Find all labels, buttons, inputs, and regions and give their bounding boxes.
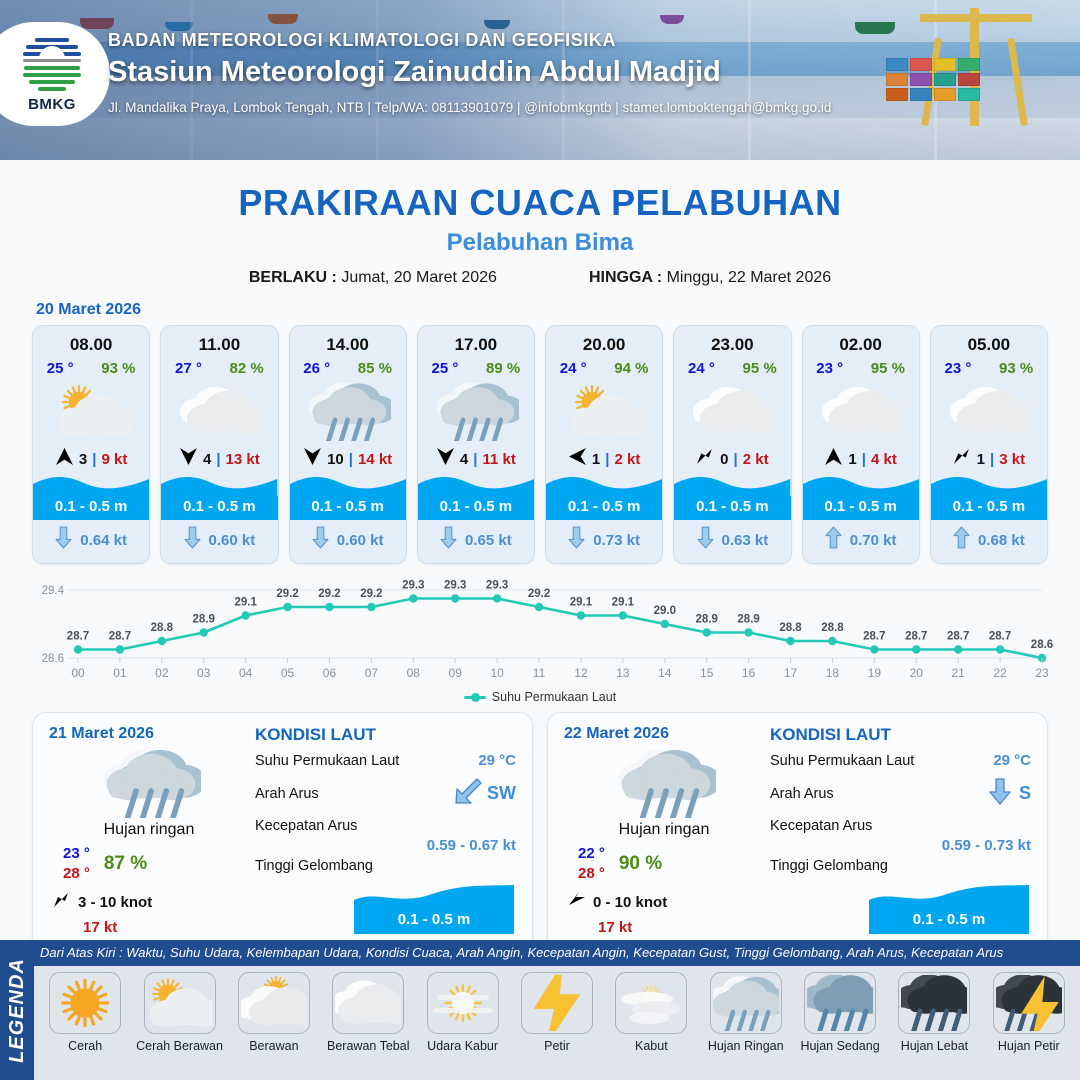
card-temperature: 25 ° xyxy=(47,360,74,377)
legend-item: Hujan Sedang xyxy=(793,972,887,1053)
valid-from: BERLAKU : Jumat, 20 Maret 2026 xyxy=(249,269,497,287)
wind-arrow-left-up-icon xyxy=(568,891,586,914)
wave-height-value: 0.1 - 0.5 m xyxy=(290,496,406,520)
card-wave-block: 0.1 - 0.5 m xyxy=(290,474,406,520)
wind-arrow-down-icon xyxy=(436,447,455,471)
card-temperature: 27 ° xyxy=(175,360,202,377)
svg-text:07: 07 xyxy=(365,666,379,680)
weather-rain-icon xyxy=(564,745,764,819)
current-arrow-down-icon xyxy=(312,526,329,554)
current-arrow-down-icon xyxy=(184,526,201,554)
card-temperature: 23 ° xyxy=(945,360,972,377)
separator: | xyxy=(473,451,477,468)
station-name: Stasiun Meteorologi Zainuddin Abdul Madj… xyxy=(108,56,831,89)
validity-row: BERLAKU : Jumat, 20 Maret 2026 HINGGA : … xyxy=(0,269,1080,287)
card-humidity: 93 % xyxy=(101,360,135,377)
legend-marker-icon xyxy=(464,696,486,699)
svg-text:29.0: 29.0 xyxy=(654,605,676,617)
card-time: 17.00 xyxy=(455,335,498,355)
svg-text:13: 13 xyxy=(616,666,630,680)
valid-to: HINGGA : Minggu, 22 Maret 2026 xyxy=(589,269,831,287)
sst-chart-svg: 29.428.628.70028.70128.80228.90329.10429… xyxy=(20,576,1060,688)
card-temperature: 23 ° xyxy=(816,360,843,377)
valid-to-label: HINGGA : xyxy=(589,269,662,286)
wind-arrow-down-left-icon xyxy=(53,891,71,914)
card-temp-humidity: 26 ° 85 % xyxy=(290,360,406,377)
legend-item-label: Udara Kabur xyxy=(427,1039,498,1053)
separator: | xyxy=(605,451,609,468)
wave-shape-icon xyxy=(674,474,790,496)
legend-item-label: Petir xyxy=(544,1039,570,1053)
legend-item: Udara Kabur xyxy=(415,972,509,1053)
svg-text:04: 04 xyxy=(239,666,253,680)
legend-sun-cloud-icon xyxy=(144,972,216,1034)
legend-item: Petir xyxy=(510,972,604,1053)
current-speed-value: 0.64 kt xyxy=(80,532,127,549)
legend-item: Hujan Ringan xyxy=(699,972,793,1053)
legend-item: Cerah Berawan xyxy=(132,972,226,1053)
legend-item-label: Berawan xyxy=(249,1039,298,1053)
weather-rain-icon xyxy=(433,380,519,442)
hourly-card[interactable]: 05.00 23 ° 93 % 1 | 3 kt 0.1 - 0.5 m 0.6… xyxy=(930,325,1048,564)
wave-shape-icon xyxy=(931,474,1047,496)
card-wind: 10 | 14 kt xyxy=(303,446,392,472)
legend-fog-icon xyxy=(615,972,687,1034)
svg-text:29.3: 29.3 xyxy=(444,580,466,592)
bmkg-emblem-icon xyxy=(23,36,81,92)
card-humidity: 85 % xyxy=(358,360,392,377)
legend-moderate-rain-icon xyxy=(804,972,876,1034)
chart-legend: Suhu Permukaan Laut xyxy=(0,690,1080,704)
legend-item-label: Hujan Ringan xyxy=(708,1039,784,1053)
wind-direction-value: 1 xyxy=(848,451,856,468)
card-time: 08.00 xyxy=(70,335,113,355)
card-wave-block: 0.1 - 0.5 m xyxy=(161,474,277,520)
hourly-card[interactable]: 23.00 24 ° 95 % 0 | 2 kt 0.1 - 0.5 m 0.6… xyxy=(673,325,791,564)
current-direction-value: S xyxy=(1019,783,1031,804)
legend-side-label: LEGENDA xyxy=(6,958,29,1063)
card-temp-humidity: 25 ° 89 % xyxy=(418,360,534,377)
port-name: Pelabuhan Bima xyxy=(0,229,1080,257)
legend-item: Cerah xyxy=(38,972,132,1053)
current-arrow-up-icon xyxy=(825,526,842,554)
valid-from-label: BERLAKU : xyxy=(249,269,337,286)
wind-arrow-up-icon xyxy=(824,447,843,471)
card-current: 0.65 kt xyxy=(418,520,534,563)
daily-wave-value: 0.1 - 0.5 m xyxy=(354,910,514,934)
wind-direction-value: 10 xyxy=(327,451,344,468)
card-temp-humidity: 23 ° 95 % xyxy=(803,360,919,377)
daily-wind: 3 - 10 knot xyxy=(49,891,249,914)
wave-shape-icon xyxy=(354,884,514,910)
wave-shape-icon xyxy=(33,474,149,496)
svg-text:28.7: 28.7 xyxy=(109,631,131,643)
wave-shape-icon xyxy=(803,474,919,496)
svg-text:28.9: 28.9 xyxy=(737,614,759,626)
daily-wind: 0 - 10 knot xyxy=(564,891,764,914)
wave-shape-icon xyxy=(161,474,277,496)
legend-lightning-icon xyxy=(521,972,593,1034)
current-arrow-down-left-diagonal-icon xyxy=(453,776,483,811)
svg-text:06: 06 xyxy=(323,666,337,680)
valid-to-value: Minggu, 22 Maret 2026 xyxy=(667,269,832,286)
page-title: PRAKIRAAN CUACA PELABUHAN xyxy=(0,182,1080,224)
card-wave-block: 0.1 - 0.5 m xyxy=(546,474,662,520)
card-time: 20.00 xyxy=(583,335,626,355)
legend-item: Berawan Tebal xyxy=(321,972,415,1053)
sst-label: Suhu Permukaan Laut xyxy=(770,753,914,769)
daily-wave-value: 0.1 - 0.5 m xyxy=(869,910,1029,934)
hourly-card[interactable]: 08.00 25 ° 93 % 3 | 9 kt 0.1 - 0.5 m 0.6… xyxy=(32,325,150,564)
daily-summary: 21 Maret 2026 Hujan ringan 23 ° 28 ° 87 … xyxy=(49,725,249,936)
daily-wave-block: 0.1 - 0.5 m xyxy=(255,878,516,934)
wind-arrow-down-icon xyxy=(179,447,198,471)
svg-text:21: 21 xyxy=(951,666,965,680)
wind-speed-value: 2 kt xyxy=(743,451,769,468)
svg-text:15: 15 xyxy=(700,666,714,680)
svg-text:05: 05 xyxy=(281,666,295,680)
daily-temperatures: 22 ° 28 ° 90 % xyxy=(564,845,764,882)
bmkg-logo: BMKG xyxy=(0,22,110,126)
svg-text:28.9: 28.9 xyxy=(696,614,718,626)
card-humidity: 95 % xyxy=(871,360,905,377)
current-speed-label: Kecepatan Arus xyxy=(770,818,1031,834)
card-wind: 4 | 11 kt xyxy=(436,446,516,472)
card-current: 0.64 kt xyxy=(33,520,149,563)
sea-conditions: KONDISI LAUT Suhu Permukaan Laut 29 °C A… xyxy=(764,725,1031,936)
daily-temp-max: 28 ° xyxy=(578,865,605,882)
wind-direction-value: 0 xyxy=(720,451,728,468)
wave-height-value: 0.1 - 0.5 m xyxy=(931,496,1047,520)
svg-text:23: 23 xyxy=(1035,666,1049,680)
current-speed-value: 0.63 kt xyxy=(722,532,769,549)
legend-item: Berawan xyxy=(227,972,321,1053)
legend-item-label: Hujan Petir xyxy=(998,1039,1060,1053)
current-direction-label: Arah Arus xyxy=(255,786,319,802)
svg-text:12: 12 xyxy=(574,666,588,680)
svg-text:28.7: 28.7 xyxy=(947,631,969,643)
wave-shape-icon xyxy=(290,474,406,496)
hourly-card[interactable]: 14.00 26 ° 85 % 10 | 14 kt 0.1 - 0.5 m 0… xyxy=(289,325,407,564)
card-wave-block: 0.1 - 0.5 m xyxy=(418,474,534,520)
daily-wind-range: 3 - 10 knot xyxy=(78,894,152,911)
current-speed-value: 0.59 - 0.67 kt xyxy=(255,837,516,854)
daily-panel[interactable]: 22 Maret 2026 Hujan ringan 22 ° 28 ° 90 … xyxy=(547,712,1048,951)
current-speed-value: 0.73 kt xyxy=(593,532,640,549)
svg-text:29.4: 29.4 xyxy=(42,585,65,597)
card-temperature: 26 ° xyxy=(303,360,330,377)
wave-height-value: 0.1 - 0.5 m xyxy=(674,496,790,520)
daily-wind-range: 0 - 10 knot xyxy=(593,894,667,911)
weather-cloud-icon xyxy=(689,380,775,442)
card-temp-humidity: 27 ° 82 % xyxy=(161,360,277,377)
card-time: 14.00 xyxy=(326,335,369,355)
svg-text:28.6: 28.6 xyxy=(42,653,64,665)
legend-item: Kabut xyxy=(604,972,698,1053)
hourly-day-label: 20 Maret 2026 xyxy=(36,301,1080,319)
svg-text:02: 02 xyxy=(155,666,169,680)
svg-text:29.2: 29.2 xyxy=(318,588,340,600)
wave-height-value: 0.1 - 0.5 m xyxy=(803,496,919,520)
svg-text:28.9: 28.9 xyxy=(193,614,215,626)
current-speed-value: 0.60 kt xyxy=(337,532,384,549)
current-speed-value: 0.68 kt xyxy=(978,532,1025,549)
current-speed-label: Kecepatan Arus xyxy=(255,818,516,834)
wind-speed-value: 2 kt xyxy=(614,451,640,468)
daily-temp-min: 23 ° xyxy=(63,845,90,862)
svg-text:29.3: 29.3 xyxy=(486,580,508,592)
wind-speed-value: 11 kt xyxy=(482,451,515,468)
wave-height-label: Tinggi Gelombang xyxy=(770,858,1031,874)
svg-text:29.1: 29.1 xyxy=(570,597,593,609)
svg-text:01: 01 xyxy=(113,666,127,680)
hourly-forecast-row: 08.00 25 ° 93 % 3 | 9 kt 0.1 - 0.5 m 0.6… xyxy=(0,325,1080,564)
svg-text:28.8: 28.8 xyxy=(779,622,802,634)
separator: | xyxy=(349,451,353,468)
sst-label: Suhu Permukaan Laut xyxy=(255,753,399,769)
legend-heavy-rain-icon xyxy=(898,972,970,1034)
card-time: 05.00 xyxy=(968,335,1011,355)
current-speed-value: 0.65 kt xyxy=(465,532,512,549)
wave-height-value: 0.1 - 0.5 m xyxy=(161,496,277,520)
daily-date: 22 Maret 2026 xyxy=(564,725,764,743)
weather-rain-icon xyxy=(49,745,249,819)
svg-text:29.1: 29.1 xyxy=(234,597,257,609)
card-wind: 1 | 2 kt xyxy=(568,446,640,472)
bmkg-logo-text: BMKG xyxy=(28,96,76,113)
card-current: 0.60 kt xyxy=(161,520,277,563)
card-time: 11.00 xyxy=(199,335,241,355)
current-speed-value: 0.70 kt xyxy=(850,532,897,549)
svg-text:28.7: 28.7 xyxy=(863,631,885,643)
separator: | xyxy=(862,451,866,468)
card-temperature: 24 ° xyxy=(560,360,587,377)
svg-text:29.3: 29.3 xyxy=(402,580,424,592)
svg-text:28.8: 28.8 xyxy=(151,622,174,634)
legend-clouds-icon xyxy=(332,972,404,1034)
daily-panel[interactable]: 21 Maret 2026 Hujan ringan 23 ° 28 ° 87 … xyxy=(32,712,533,951)
svg-text:11: 11 xyxy=(533,666,546,680)
card-current: 0.70 kt xyxy=(803,520,919,563)
card-wave-block: 0.1 - 0.5 m xyxy=(931,474,1047,520)
svg-text:28.7: 28.7 xyxy=(67,631,89,643)
svg-text:16: 16 xyxy=(742,666,756,680)
daily-condition: Hujan ringan xyxy=(564,821,764,839)
current-arrow-down-icon xyxy=(568,526,585,554)
card-time: 02.00 xyxy=(839,335,882,355)
legend-item-label: Hujan Lebat xyxy=(901,1039,968,1053)
daily-temperatures: 23 ° 28 ° 87 % xyxy=(49,845,249,882)
daily-temp-min: 22 ° xyxy=(578,845,605,862)
legend-sun-clouds-icon xyxy=(238,972,310,1034)
daily-condition: Hujan ringan xyxy=(49,821,249,839)
card-wave-block: 0.1 - 0.5 m xyxy=(33,474,149,520)
legend-footer: LEGENDA Dari Atas Kiri : Waktu, Suhu Uda… xyxy=(0,940,1080,1080)
card-current: 0.63 kt xyxy=(674,520,790,563)
svg-text:28.8: 28.8 xyxy=(821,622,844,634)
sea-conditions-title: KONDISI LAUT xyxy=(255,725,516,745)
hourly-card[interactable]: 02.00 23 ° 95 % 1 | 4 kt 0.1 - 0.5 m 0.7… xyxy=(802,325,920,564)
sea-conditions-title: KONDISI LAUT xyxy=(770,725,1031,745)
wave-height-value: 0.1 - 0.5 m xyxy=(33,496,149,520)
daily-humidity: 90 % xyxy=(619,853,662,875)
separator: | xyxy=(216,451,220,468)
card-wave-block: 0.1 - 0.5 m xyxy=(803,474,919,520)
svg-text:28.6: 28.6 xyxy=(1031,639,1053,651)
current-direction-value: SW xyxy=(487,783,516,804)
current-speed-value: 0.60 kt xyxy=(209,532,256,549)
card-humidity: 94 % xyxy=(614,360,648,377)
legend-items-row: Cerah Cerah Berawan Berawan Berawan Teba… xyxy=(34,966,1080,1080)
legend-item-label: Cerah xyxy=(68,1039,102,1053)
svg-text:18: 18 xyxy=(826,666,840,680)
current-speed-value: 0.59 - 0.73 kt xyxy=(770,837,1031,854)
page-header: BMKG BADAN METEOROLOGI KLIMATOLOGI DAN G… xyxy=(0,0,1080,160)
card-humidity: 89 % xyxy=(486,360,520,377)
wave-shape-icon xyxy=(418,474,534,496)
current-arrow-down-icon xyxy=(985,776,1015,811)
svg-text:09: 09 xyxy=(449,666,463,680)
svg-text:03: 03 xyxy=(197,666,211,680)
separator: | xyxy=(990,451,994,468)
weather-rain-icon xyxy=(305,380,391,442)
wind-direction-value: 4 xyxy=(203,451,211,468)
daily-gust: 17 kt xyxy=(564,919,764,936)
contact-info: Jl. Mandalika Praya, Lombok Tengah, NTB … xyxy=(108,100,831,115)
svg-text:20: 20 xyxy=(910,666,924,680)
card-current: 0.73 kt xyxy=(546,520,662,563)
daily-panels: 21 Maret 2026 Hujan ringan 23 ° 28 ° 87 … xyxy=(0,704,1080,951)
hourly-card[interactable]: 20.00 24 ° 94 % 1 | 2 kt 0.1 - 0.5 m 0.7… xyxy=(545,325,663,564)
wind-direction-value: 3 xyxy=(79,451,87,468)
wave-height-value: 0.1 - 0.5 m xyxy=(418,496,534,520)
card-wind: 4 | 13 kt xyxy=(179,446,260,472)
svg-text:10: 10 xyxy=(490,666,504,680)
card-wind: 1 | 3 kt xyxy=(953,446,1025,472)
wind-arrow-left-icon xyxy=(568,447,587,471)
card-temp-humidity: 25 ° 93 % xyxy=(33,360,149,377)
daily-date: 21 Maret 2026 xyxy=(49,725,249,743)
wave-shape-icon xyxy=(546,474,662,496)
svg-text:14: 14 xyxy=(658,666,672,680)
card-temperature: 25 ° xyxy=(432,360,459,377)
wave-height-value: 0.1 - 0.5 m xyxy=(546,496,662,520)
wave-height-label: Tinggi Gelombang xyxy=(255,858,516,874)
daily-summary: 22 Maret 2026 Hujan ringan 22 ° 28 ° 90 … xyxy=(564,725,764,936)
legend-sun-icon xyxy=(49,972,121,1034)
card-temp-humidity: 23 ° 93 % xyxy=(931,360,1047,377)
weather-cloud-icon xyxy=(946,380,1032,442)
card-wave-block: 0.1 - 0.5 m xyxy=(674,474,790,520)
svg-text:29.2: 29.2 xyxy=(360,588,382,600)
svg-text:29.2: 29.2 xyxy=(528,588,550,600)
svg-text:00: 00 xyxy=(71,666,85,680)
sea-conditions: KONDISI LAUT Suhu Permukaan Laut 29 °C A… xyxy=(249,725,516,936)
svg-text:29.1: 29.1 xyxy=(612,597,635,609)
legend-light-rain-icon xyxy=(710,972,782,1034)
wave-shape-icon xyxy=(869,884,1029,910)
sst-chart: 29.428.628.70028.70128.80228.90329.10429… xyxy=(20,576,1060,688)
card-current: 0.68 kt xyxy=(931,520,1047,563)
legend-side-banner: LEGENDA xyxy=(0,940,34,1080)
sst-value: 29 °C xyxy=(993,752,1031,769)
card-temp-humidity: 24 ° 95 % xyxy=(674,360,790,377)
weather-cloud-icon xyxy=(176,380,262,442)
wind-speed-value: 4 kt xyxy=(871,451,897,468)
valid-from-value: Jumat, 20 Maret 2026 xyxy=(341,269,497,286)
card-humidity: 95 % xyxy=(743,360,777,377)
hourly-card[interactable]: 17.00 25 ° 89 % 4 | 11 kt 0.1 - 0.5 m 0.… xyxy=(417,325,535,564)
daily-humidity: 87 % xyxy=(104,853,147,875)
card-current: 0.60 kt xyxy=(290,520,406,563)
wind-speed-value: 13 kt xyxy=(226,451,260,468)
current-arrow-down-icon xyxy=(697,526,714,554)
svg-text:28.7: 28.7 xyxy=(905,631,927,643)
wind-direction-value: 4 xyxy=(460,451,468,468)
separator: | xyxy=(92,451,96,468)
weather-sun-cloud-icon xyxy=(48,380,134,442)
legend-item-label: Berawan Tebal xyxy=(327,1039,409,1053)
daily-wave-block: 0.1 - 0.5 m xyxy=(770,878,1031,934)
card-wind: 3 | 9 kt xyxy=(55,446,127,472)
current-arrow-up-icon xyxy=(953,526,970,554)
daily-temp-max: 28 ° xyxy=(63,865,90,882)
legend-note: Dari Atas Kiri : Waktu, Suhu Udara, Kele… xyxy=(40,945,1003,960)
card-wind: 0 | 2 kt xyxy=(696,446,768,472)
chart-legend-label: Suhu Permukaan Laut xyxy=(492,690,616,704)
wind-arrow-up-icon xyxy=(55,447,74,471)
svg-text:19: 19 xyxy=(868,666,882,680)
wind-speed-value: 14 kt xyxy=(358,451,392,468)
legend-item-label: Cerah Berawan xyxy=(136,1039,223,1053)
current-arrow-down-icon xyxy=(55,526,72,554)
agency-name: BADAN METEOROLOGI KLIMATOLOGI DAN GEOFIS… xyxy=(108,30,831,51)
legend-item-label: Kabut xyxy=(635,1039,668,1053)
hourly-card[interactable]: 11.00 27 ° 82 % 4 | 13 kt 0.1 - 0.5 m 0.… xyxy=(160,325,278,564)
legend-thunderstorm-icon xyxy=(993,972,1065,1034)
wind-arrow-down-left-icon xyxy=(953,447,972,471)
weather-sun-cloud-icon xyxy=(561,380,647,442)
card-humidity: 93 % xyxy=(999,360,1033,377)
legend-item: Hujan Petir xyxy=(982,972,1076,1053)
svg-text:08: 08 xyxy=(407,666,421,680)
current-arrow-down-icon xyxy=(440,526,457,554)
current-direction-label: Arah Arus xyxy=(770,786,834,802)
wind-arrow-down-icon xyxy=(303,447,322,471)
svg-text:17: 17 xyxy=(784,666,798,680)
header-text-block: BADAN METEOROLOGI KLIMATOLOGI DAN GEOFIS… xyxy=(108,30,831,115)
legend-item-label: Hujan Sedang xyxy=(800,1039,879,1053)
title-block: PRAKIRAAN CUACA PELABUHAN Pelabuhan Bima… xyxy=(0,182,1080,287)
card-temp-humidity: 24 ° 94 % xyxy=(546,360,662,377)
wind-direction-value: 1 xyxy=(592,451,600,468)
card-time: 23.00 xyxy=(711,335,754,355)
svg-text:29.2: 29.2 xyxy=(276,588,298,600)
sst-value: 29 °C xyxy=(478,752,516,769)
wind-arrow-down-left-icon xyxy=(696,447,715,471)
wind-speed-value: 3 kt xyxy=(999,451,1025,468)
legend-haze-icon xyxy=(427,972,499,1034)
card-temperature: 24 ° xyxy=(688,360,715,377)
wind-speed-value: 9 kt xyxy=(101,451,127,468)
weather-cloud-icon xyxy=(818,380,904,442)
legend-item: Hujan Lebat xyxy=(887,972,981,1053)
svg-text:28.7: 28.7 xyxy=(989,631,1011,643)
separator: | xyxy=(734,451,738,468)
svg-text:22: 22 xyxy=(993,666,1007,680)
daily-gust: 17 kt xyxy=(49,919,249,936)
card-humidity: 82 % xyxy=(230,360,264,377)
